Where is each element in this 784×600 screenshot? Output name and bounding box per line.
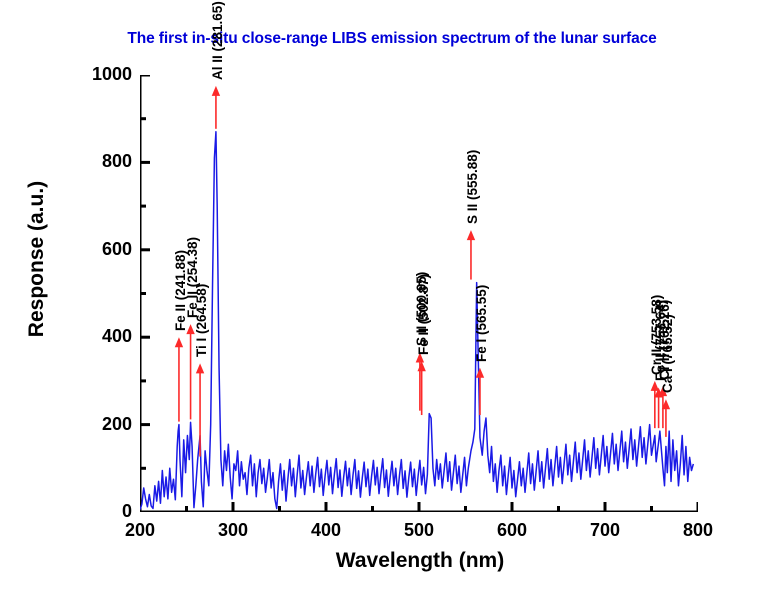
- peak-annotation-label: Ca I (765.52): [660, 314, 675, 393]
- y-tick-label: 800: [62, 151, 132, 172]
- y-axis-label: Response (a.u.): [25, 129, 49, 389]
- y-tick-label: 200: [62, 414, 132, 435]
- y-tick-label: 600: [62, 239, 132, 260]
- x-tick-label: 700: [570, 520, 640, 541]
- y-tick-label: 400: [62, 326, 132, 347]
- x-tick-label: 500: [384, 520, 454, 541]
- x-tick-label: 200: [105, 520, 175, 541]
- peak-annotation-label: S II (555.88): [465, 150, 480, 224]
- x-tick-label: 400: [291, 520, 361, 541]
- figure: The first in-situ close-range LIBS emiss…: [0, 0, 784, 600]
- peak-annotation-label: Fe II (502.87): [416, 274, 431, 355]
- y-tick-label: 1000: [62, 64, 132, 85]
- x-tick-label: 600: [477, 520, 547, 541]
- peak-annotation-label: Fe I (565.55): [474, 284, 489, 361]
- x-tick-label: 800: [663, 520, 733, 541]
- x-tick-label: 300: [198, 520, 268, 541]
- chart-title: The first in-situ close-range LIBS emiss…: [0, 30, 784, 48]
- x-axis-label: Wavelength (nm): [140, 549, 700, 573]
- peak-annotation-label: Ti I (264.58): [194, 284, 209, 357]
- peak-annotation-label: Al II (281.65): [210, 1, 225, 80]
- y-tick-label: 0: [62, 501, 132, 522]
